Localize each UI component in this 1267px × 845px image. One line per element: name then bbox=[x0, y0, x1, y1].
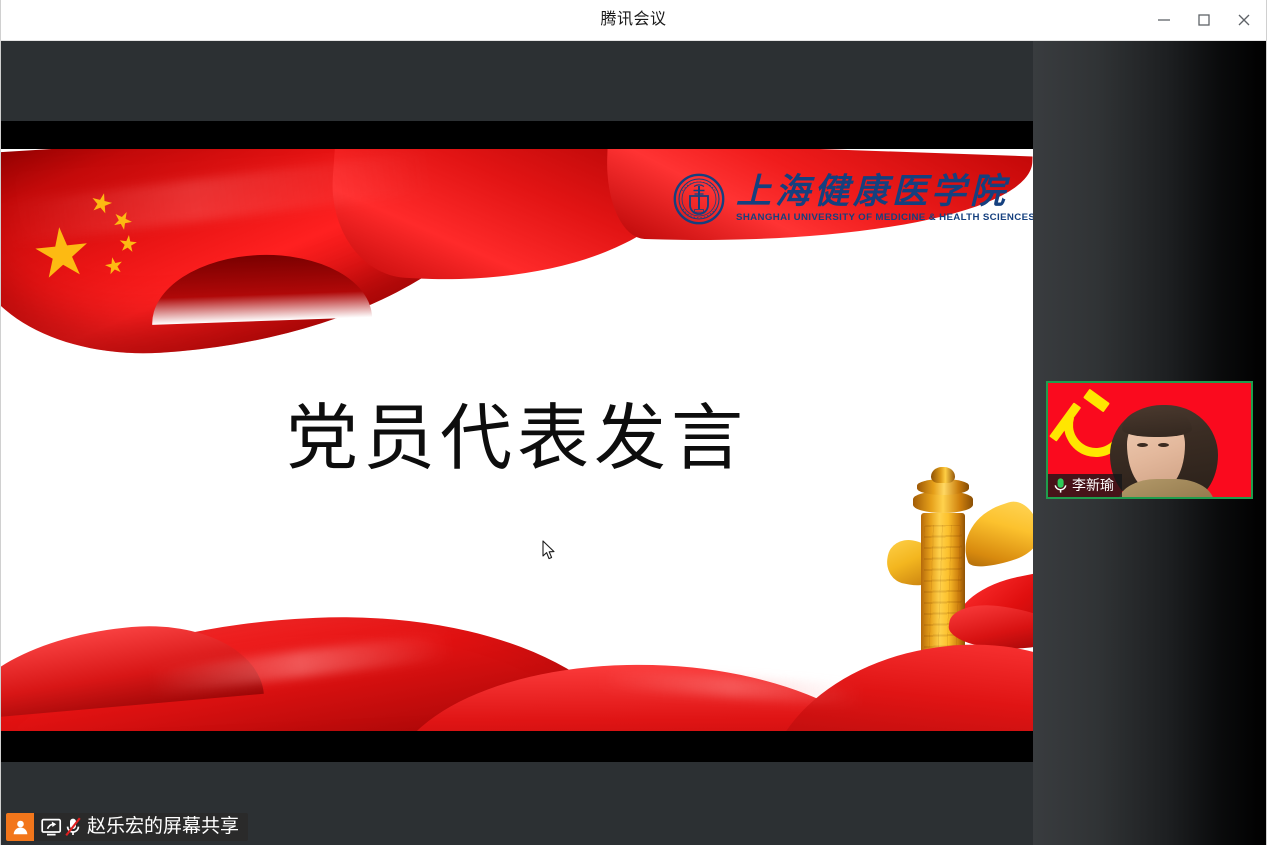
university-name-chinese: 上海健康医学院 bbox=[736, 173, 1029, 211]
screen-share-status-bar[interactable]: 赵乐宏的屏幕共享 bbox=[6, 813, 248, 841]
mouse-cursor-icon bbox=[542, 540, 556, 560]
flag-star-small bbox=[118, 234, 138, 254]
participant-avatar bbox=[1110, 405, 1218, 499]
participants-panel[interactable]: 李新瑜 bbox=[1033, 41, 1266, 845]
mic-muted-icon bbox=[64, 817, 82, 837]
presentation-slide: 上海健康医学院 SHANGHAI UNIVERSITY OF MEDICINE … bbox=[1, 149, 1033, 731]
screen-share-label: 赵乐宏的屏幕共享 bbox=[86, 813, 248, 841]
letterbox-bottom bbox=[1, 731, 1033, 762]
window-title: 腾讯会议 bbox=[1, 0, 1266, 40]
mic-on-icon[interactable] bbox=[1051, 476, 1070, 495]
person-icon bbox=[6, 813, 34, 841]
slide-title: 党员代表发言 bbox=[1, 395, 1033, 481]
flag-star-small bbox=[110, 208, 135, 233]
university-seal-icon bbox=[673, 173, 725, 225]
huabiao-pillar-graphic bbox=[891, 469, 1033, 731]
title-bar: 腾讯会议 bbox=[1, 0, 1266, 41]
letterbox-top bbox=[1, 121, 1033, 149]
university-logo: 上海健康医学院 SHANGHAI UNIVERSITY OF MEDICINE … bbox=[673, 173, 1029, 225]
participant-name-badge: 李新瑜 bbox=[1048, 474, 1122, 497]
close-button[interactable] bbox=[1224, 0, 1264, 40]
screen-share-icon bbox=[41, 818, 62, 836]
shared-screen-area[interactable]: 上海健康医学院 SHANGHAI UNIVERSITY OF MEDICINE … bbox=[1, 41, 1033, 845]
maximize-icon bbox=[1197, 13, 1211, 27]
tencent-meeting-window: 腾讯会议 bbox=[0, 0, 1267, 845]
minimize-button[interactable] bbox=[1144, 0, 1184, 40]
university-name-english: SHANGHAI UNIVERSITY OF MEDICINE & HEALTH… bbox=[736, 211, 1033, 225]
minimize-icon bbox=[1157, 13, 1171, 27]
share-backdrop-top bbox=[1, 41, 1033, 121]
participant-video-tile[interactable]: 李新瑜 bbox=[1046, 381, 1253, 499]
flag-star-large bbox=[32, 224, 91, 283]
maximize-button[interactable] bbox=[1184, 0, 1224, 40]
flag-star-small bbox=[89, 191, 114, 216]
participant-name: 李新瑜 bbox=[1072, 474, 1114, 497]
close-icon bbox=[1237, 13, 1251, 27]
person-glyph-icon bbox=[12, 819, 29, 836]
flag-star-small bbox=[103, 255, 124, 276]
